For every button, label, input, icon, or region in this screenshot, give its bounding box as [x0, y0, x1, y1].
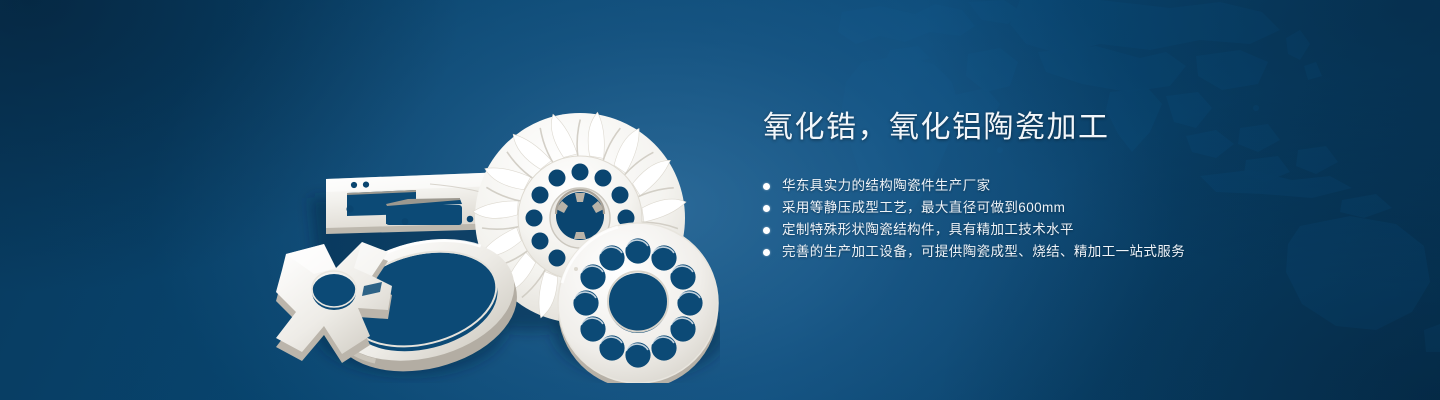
list-item-label: 采用等静压成型工艺，最大直径可做到600mm: [782, 197, 1065, 219]
bullet-dot-icon: [763, 249, 770, 256]
banner-copy: 氧化锆，氧化铝陶瓷加工 华东具实力的结构陶瓷件生产厂家 采用等静压成型工艺，最大…: [763, 106, 1323, 263]
list-item-label: 完善的生产加工设备，可提供陶瓷成型、烧结、精加工一站式服务: [782, 241, 1185, 263]
bullet-dot-icon: [763, 183, 770, 190]
ceramic-products-image: [230, 38, 720, 383]
bullet-dot-icon: [763, 227, 770, 234]
list-item: 采用等静压成型工艺，最大直径可做到600mm: [763, 197, 1323, 219]
product-hero-banner: 氧化锆，氧化铝陶瓷加工 华东具实力的结构陶瓷件生产厂家 采用等静压成型工艺，最大…: [0, 0, 1440, 400]
feature-list: 华东具实力的结构陶瓷件生产厂家 采用等静压成型工艺，最大直径可做到600mm 定…: [763, 175, 1323, 263]
ceramic-perforated-disc: [558, 223, 718, 383]
list-item: 完善的生产加工设备，可提供陶瓷成型、烧结、精加工一站式服务: [763, 241, 1323, 263]
bullet-dot-icon: [763, 205, 770, 212]
list-item: 华东具实力的结构陶瓷件生产厂家: [763, 175, 1323, 197]
list-item: 定制特殊形状陶瓷结构件，具有精加工技术水平: [763, 219, 1323, 241]
list-item-label: 定制特殊形状陶瓷结构件，具有精加工技术水平: [782, 219, 1074, 241]
page-title: 氧化锆，氧化铝陶瓷加工: [763, 106, 1323, 150]
list-item-label: 华东具实力的结构陶瓷件生产厂家: [782, 175, 991, 197]
